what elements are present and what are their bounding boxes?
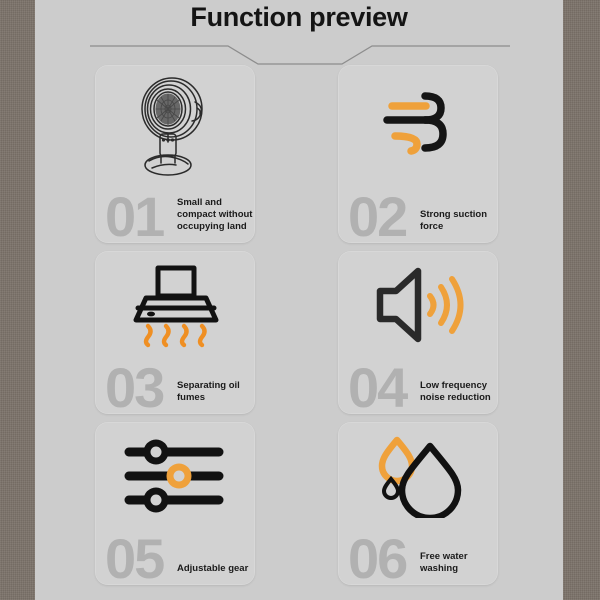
content-stage: Function preview xyxy=(35,0,563,600)
feature-card-06[interactable]: 06 Free water washing xyxy=(338,422,498,585)
card-caption-06: 06 Free water washing xyxy=(348,517,494,579)
card-number-01: 01 xyxy=(105,189,163,243)
range-hood-icon xyxy=(95,251,255,359)
feature-card-02[interactable]: 02 Strong suction force xyxy=(338,65,498,243)
card-label-03: Separating oil fumes xyxy=(177,380,255,404)
feature-card-04[interactable]: 04 Low frequency noise reduction xyxy=(338,251,498,414)
card-number-02: 02 xyxy=(348,189,406,243)
card-caption-04: 04 Low frequency noise reduction xyxy=(348,346,494,408)
card-number-06: 06 xyxy=(348,531,406,585)
feature-card-05[interactable]: 05 Adjustable gear xyxy=(95,422,255,585)
card-label-06: Free water washing xyxy=(420,551,498,575)
sliders-icon xyxy=(95,422,255,530)
card-label-01: Small and compact without occupying land xyxy=(177,197,255,233)
card-label-04: Low frequency noise reduction xyxy=(420,380,498,404)
card-number-04: 04 xyxy=(348,360,406,414)
feature-card-grid: 01 Small and compact without occupying l… xyxy=(95,65,505,585)
speaker-sound-icon xyxy=(338,251,498,359)
right-fabric-border xyxy=(563,0,600,600)
card-caption-03: 03 Separating oil fumes xyxy=(105,346,251,408)
title-divider-ornament xyxy=(90,40,510,66)
card-caption-05: 05 Adjustable gear xyxy=(105,517,251,579)
card-caption-01: 01 Small and compact without occupying l… xyxy=(105,175,251,237)
card-number-05: 05 xyxy=(105,531,163,585)
page-title: Function preview xyxy=(35,2,563,33)
card-number-03: 03 xyxy=(105,360,163,414)
card-label-02: Strong suction force xyxy=(420,209,498,233)
feature-card-03[interactable]: 03 Separating oil fumes xyxy=(95,251,255,414)
left-fabric-border xyxy=(0,0,35,600)
water-drop-icon xyxy=(338,422,498,530)
card-label-05: Adjustable gear xyxy=(177,563,255,575)
feature-card-01[interactable]: 01 Small and compact without occupying l… xyxy=(95,65,255,243)
wind-airflow-icon xyxy=(338,65,498,183)
card-caption-02: 02 Strong suction force xyxy=(348,175,494,237)
bladeless-fan-icon xyxy=(95,65,255,183)
page-root: Function preview xyxy=(0,0,600,600)
